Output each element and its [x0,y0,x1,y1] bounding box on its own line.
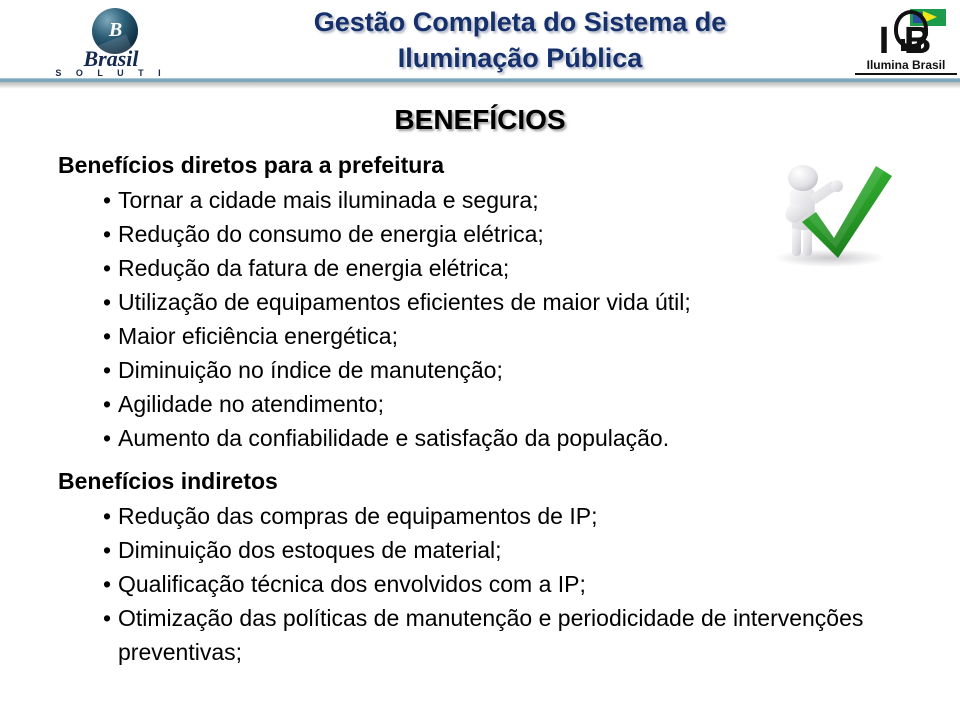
list-item-text: Diminuição dos estoques de material; [118,537,502,563]
ilb-logo: I B Ilumina Brasil [855,4,957,78]
header-divider-shadow [0,82,960,89]
bullet-icon: • [103,251,111,285]
list-item: • Redução das compras de equipamentos de… [58,499,888,533]
lightbulb-base-icon [901,39,921,51]
bullet-icon: • [103,217,111,251]
bullet-icon: • [103,387,111,421]
page-title-line-2: Iluminação Pública [200,40,840,76]
bullet-icon: • [103,499,111,533]
list-item-text: Utilização de equipamentos eficientes de… [118,289,691,315]
list-item-text: Diminuição no índice de manutenção; [118,357,503,383]
bullet-icon: • [103,353,111,387]
benefits-group-indirect: Benefícios indiretos • Redução das compr… [58,466,888,669]
list-item: • Utilização de equipamentos eficientes … [58,285,888,319]
illustration-ground-shadow [774,249,886,267]
list-item-text: Redução da fatura de energia elétrica; [118,255,509,281]
list-item: • Maior eficiência energética; [58,319,888,353]
bullet-icon: • [103,533,111,567]
benefits-list-indirect: • Redução das compras de equipamentos de… [58,499,888,669]
bullet-icon: • [103,285,111,319]
list-item-text: Otimização das políticas de manutenção e… [118,605,863,665]
bullet-icon: • [103,567,111,601]
list-item: • Qualificação técnica dos envolvidos co… [58,567,888,601]
list-item: • Agilidade no atendimento; [58,387,888,421]
slide-header: B Brasil S O L U T I Gestão Completa do … [0,0,960,86]
ilb-tagline: Ilumina Brasil [855,58,957,75]
brasil-orb-mark: B [92,20,138,40]
list-item-text: Qualificação técnica dos envolvidos com … [118,571,586,597]
list-item: • Aumento da confiabilidade e satisfação… [58,421,888,455]
bullet-icon: • [103,601,111,635]
group-title: Benefícios indiretos [58,466,888,497]
list-item-text: Redução das compras de equipamentos de I… [118,503,597,529]
list-item: • Diminuição no índice de manutenção; [58,353,888,387]
section-heading: BENEFÍCIOS [0,104,960,136]
list-item: • Diminuição dos estoques de material; [58,533,888,567]
slide-canvas: B Brasil S O L U T I Gestão Completa do … [0,0,960,720]
list-item: • Otimização das políticas de manutenção… [58,601,888,669]
list-item-text: Agilidade no atendimento; [118,391,384,417]
page-title: Gestão Completa do Sistema de Iluminação… [200,4,840,76]
bullet-icon: • [103,319,111,353]
list-item-text: Tornar a cidade mais iluminada e segura; [118,187,539,213]
bullet-icon: • [103,421,111,455]
page-title-line-1: Gestão Completa do Sistema de [200,4,840,40]
green-checkmark-icon [758,152,906,270]
brasil-subword: S O L U T I [46,68,176,78]
list-item-text: Redução do consumo de energia elétrica; [118,221,544,247]
list-item-text: Maior eficiência energética; [118,323,398,349]
brasil-soluti-logo: B Brasil S O L U T I [46,6,176,76]
list-item-text: Aumento da confiabilidade e satisfação d… [118,425,669,451]
bullet-icon: • [103,183,111,217]
